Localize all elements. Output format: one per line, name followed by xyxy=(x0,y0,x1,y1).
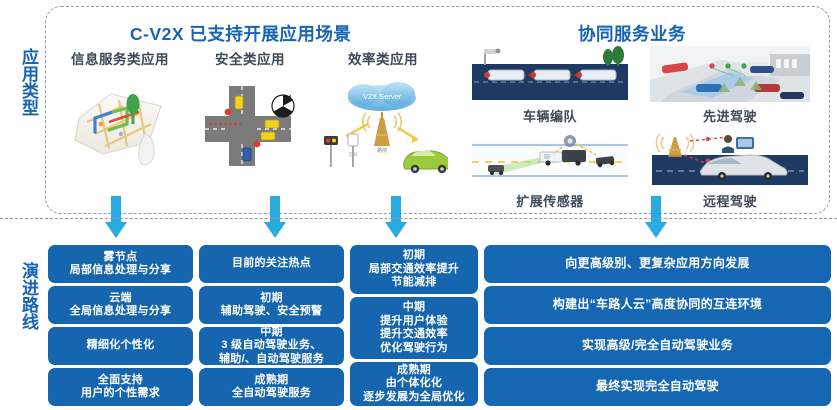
section-title-cooperative-services: 协同服务业务 xyxy=(578,21,686,46)
app-category-label: 安全类应用 xyxy=(185,48,315,68)
app-category-safety: 安全类应用 xyxy=(185,48,315,174)
truck-platooning-photo xyxy=(470,46,630,102)
section-title-cv2x-scenarios: C-V2X 已支持开展应用场景 xyxy=(130,21,351,46)
roadmap-box: 初期 局部交通效率提升 节能减排 xyxy=(350,245,478,294)
roadmap-box: 构建出“车路人云”高度协同的互连环境 xyxy=(484,286,831,324)
app-category-label: 信息服务类应用 xyxy=(55,48,185,68)
roadmap-box: 初期 辅助驾驶、安全预警 xyxy=(199,286,344,324)
v2x-server-cloud-icon: V2X Server 路侧 xyxy=(318,78,448,174)
roadmap-box: 成熟期 全自动驾驶服务 xyxy=(199,368,344,406)
down-arrow-icon xyxy=(385,196,407,238)
photo-card-extended-sensor: 扩展传感器 xyxy=(470,131,630,210)
roadmap-box: 云端 全局信息处理与分享 xyxy=(48,286,193,324)
section-divider xyxy=(0,218,837,219)
photo-card-remote-driving: 远程驾驶 xyxy=(650,131,810,210)
photo-caption: 扩展传感器 xyxy=(470,191,630,210)
app-category-info-service: 信息服务类应用 xyxy=(55,48,185,174)
photo-card-advanced-driving: 先进驾驶 xyxy=(650,46,810,125)
slide-root: 应用类型 演进路线 C-V2X 已支持开展应用场景 协同服务业务 信息服务类应用 xyxy=(0,0,837,410)
down-arrow-icon xyxy=(105,196,127,238)
remote-driving-photo xyxy=(650,131,810,187)
roadmap-box: 成熟期 由个体化化 逐步发展为全局优化 xyxy=(350,362,478,406)
roadmap-box: 目前的关注热点 xyxy=(199,245,344,283)
photo-card-truck-platooning: 车辆编队 xyxy=(470,46,630,125)
down-arrow-icon xyxy=(264,196,286,238)
photo-caption: 车辆编队 xyxy=(470,106,630,125)
photo-caption: 先进驾驶 xyxy=(650,106,810,125)
svg-text:信号: 信号 xyxy=(349,151,358,158)
down-arrow-icon xyxy=(645,196,667,238)
rail-label-application-type: 应用类型 xyxy=(6,48,38,116)
advanced-driving-photo xyxy=(650,46,810,102)
svg-text:路侧: 路侧 xyxy=(377,147,387,154)
roadmap-box: 实现高级/完全自动驾驶业务 xyxy=(484,327,831,365)
app-category-efficiency: 效率类应用 V2X Server xyxy=(318,48,448,174)
app-category-label: 效率类应用 xyxy=(318,48,448,68)
intersection-safety-icon xyxy=(195,78,305,174)
cloud-label-text: V2X Server xyxy=(363,92,402,101)
map-navigation-icon xyxy=(65,78,175,174)
rail-label-evolution-path: 演进路线 xyxy=(6,262,38,330)
roadmap-box: 向更高级别、更复杂应用方向发展 xyxy=(484,245,831,283)
extended-sensor-photo xyxy=(470,131,630,187)
photo-caption: 远程驾驶 xyxy=(650,191,810,210)
roadmap-box: 中期 3 级自动驾驶业务、 辅助/、自动驾驶服务 xyxy=(199,327,344,365)
roadmap-box: 雾节点 局部信息处理与分享 xyxy=(48,245,193,283)
roadmap-box: 最终实现完全自动驾驶 xyxy=(484,368,831,406)
roadmap-box: 全面支持 用户的个性需求 xyxy=(48,368,193,406)
roadmap-box: 中期 提升用户体验 提升交通效率 优化驾驶行为 xyxy=(350,297,478,359)
roadmap-box: 精细化个性化 xyxy=(48,327,193,365)
